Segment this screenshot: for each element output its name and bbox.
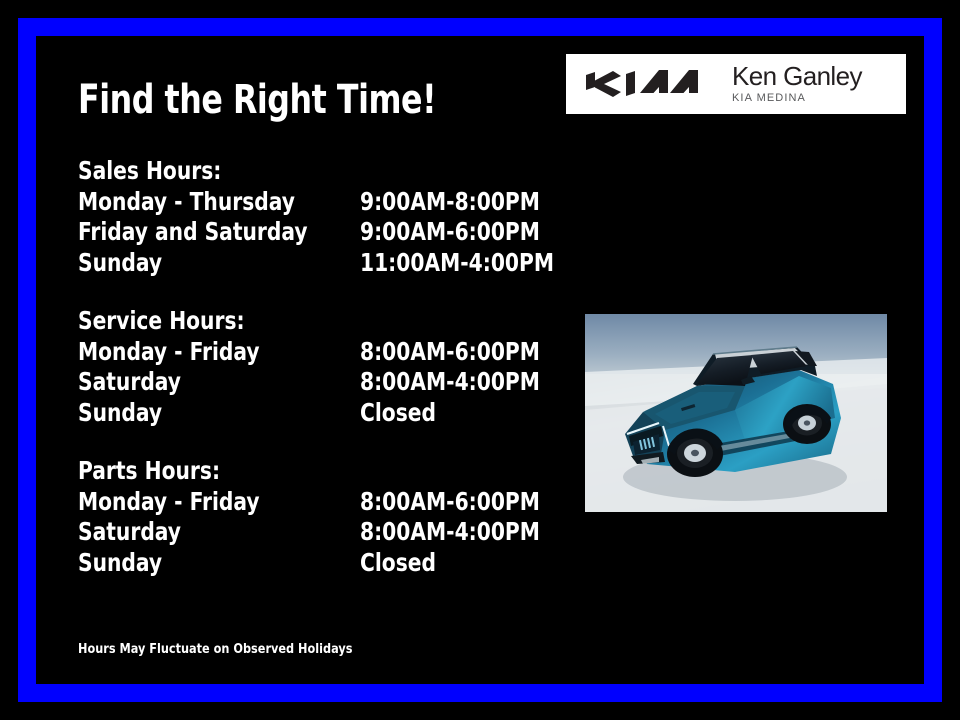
hours-row-time: 8:00AM-4:00PM (360, 517, 556, 548)
hours-row-day: Friday and Saturday (78, 217, 332, 248)
page-title: Find the Right Time! (78, 78, 436, 122)
hours-row-time: 9:00AM-8:00PM (360, 187, 556, 218)
hours-row: Saturday 8:00AM-4:00PM (78, 517, 578, 548)
dealer-name-block: Ken Ganley KIA MEDINA (732, 63, 888, 105)
hours-row: Monday - Friday 8:00AM-6:00PM (78, 487, 578, 518)
hours-row-time: 11:00AM-4:00PM (360, 248, 556, 279)
hours-row-day: Saturday (78, 517, 332, 548)
hours-row-time: Closed (360, 548, 556, 579)
dealer-subtitle: KIA MEDINA (732, 91, 888, 105)
slide-content-area: Find the Right Time! Sales Hours: Monday… (36, 36, 924, 684)
dealer-name: Ken Ganley (732, 63, 888, 90)
hours-row-time: 8:00AM-6:00PM (360, 337, 556, 368)
vehicle-photo (585, 314, 887, 512)
hours-section-sales: Sales Hours: Monday - Thursday 9:00AM-8:… (78, 156, 578, 278)
hours-row: Monday - Thursday 9:00AM-8:00PM (78, 187, 578, 218)
hours-row: Sunday Closed (78, 548, 578, 579)
hours-row-time: 8:00AM-6:00PM (360, 487, 556, 518)
slide: Find the Right Time! Sales Hours: Monday… (0, 0, 960, 720)
hours-section-title: Service Hours: (78, 306, 528, 337)
hours-row: Sunday Closed (78, 398, 578, 429)
hours-section-parts: Parts Hours: Monday - Friday 8:00AM-6:00… (78, 456, 578, 578)
hours-row-day: Saturday (78, 367, 332, 398)
hours-row-day: Monday - Thursday (78, 187, 332, 218)
hours-row: Sunday 11:00AM-4:00PM (78, 248, 578, 279)
hours-row-day: Sunday (78, 548, 332, 579)
holiday-disclaimer: Hours May Fluctuate on Observed Holidays (78, 640, 352, 658)
hours-section-title: Parts Hours: (78, 456, 528, 487)
hours-row-time: Closed (360, 398, 556, 429)
hours-row-day: Sunday (78, 398, 332, 429)
dealer-logo-banner: Ken Ganley KIA MEDINA (566, 54, 906, 114)
hours-row: Saturday 8:00AM-4:00PM (78, 367, 578, 398)
hours-row-time: 9:00AM-6:00PM (360, 217, 556, 248)
hours-row-day: Monday - Friday (78, 337, 332, 368)
hours-row-day: Sunday (78, 248, 332, 279)
hours-listing: Sales Hours: Monday - Thursday 9:00AM-8:… (78, 156, 578, 578)
kia-logo-icon (584, 67, 706, 101)
hours-row: Friday and Saturday 9:00AM-6:00PM (78, 217, 578, 248)
hours-section-title: Sales Hours: (78, 156, 528, 187)
hours-row-day: Monday - Friday (78, 487, 332, 518)
hours-section-service: Service Hours: Monday - Friday 8:00AM-6:… (78, 306, 578, 428)
hours-row-time: 8:00AM-4:00PM (360, 367, 556, 398)
hours-row: Monday - Friday 8:00AM-6:00PM (78, 337, 578, 368)
